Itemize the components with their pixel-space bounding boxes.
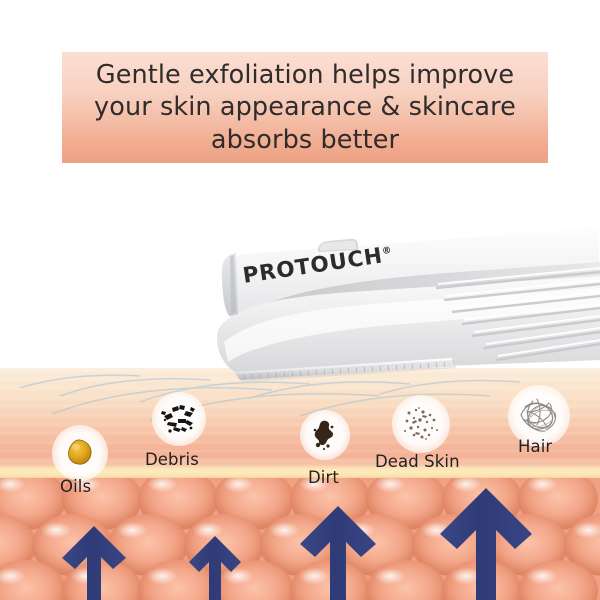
- debris-flakes-icon: [158, 400, 200, 438]
- upward-arrow-2: [187, 534, 243, 600]
- oils-bubble: [52, 425, 108, 481]
- dirt-label: Dirt: [308, 468, 339, 487]
- upward-arrow-1: [60, 524, 128, 600]
- registered-trademark-icon: ®: [381, 245, 393, 257]
- oil-droplet-icon: [63, 436, 97, 470]
- dead-skin-bubble: [392, 395, 450, 453]
- upward-arrow-4: [438, 486, 534, 600]
- debris-bubble: [152, 392, 206, 446]
- debris-label: Debris: [145, 450, 199, 469]
- upward-arrow-3: [298, 504, 378, 600]
- protouch-device: PROTOUCH®: [200, 222, 600, 384]
- dirt-speck-icon: [310, 418, 340, 452]
- marketing-graphic: Gentle exfoliation helps improve your sk…: [0, 0, 600, 600]
- headline-text: Gentle exfoliation helps improve your sk…: [76, 59, 534, 157]
- dead-skin-label: Dead Skin: [375, 452, 460, 471]
- skin-cell: [0, 560, 66, 600]
- dead-skin-flakes-icon: [399, 403, 443, 445]
- dirt-bubble: [300, 410, 350, 460]
- hair-label: Hair: [518, 437, 552, 456]
- headline-banner: Gentle exfoliation helps improve your sk…: [62, 52, 548, 163]
- skin-cell: [366, 560, 446, 600]
- hair-tangle-icon: [515, 393, 563, 439]
- oils-label: Oils: [60, 477, 91, 496]
